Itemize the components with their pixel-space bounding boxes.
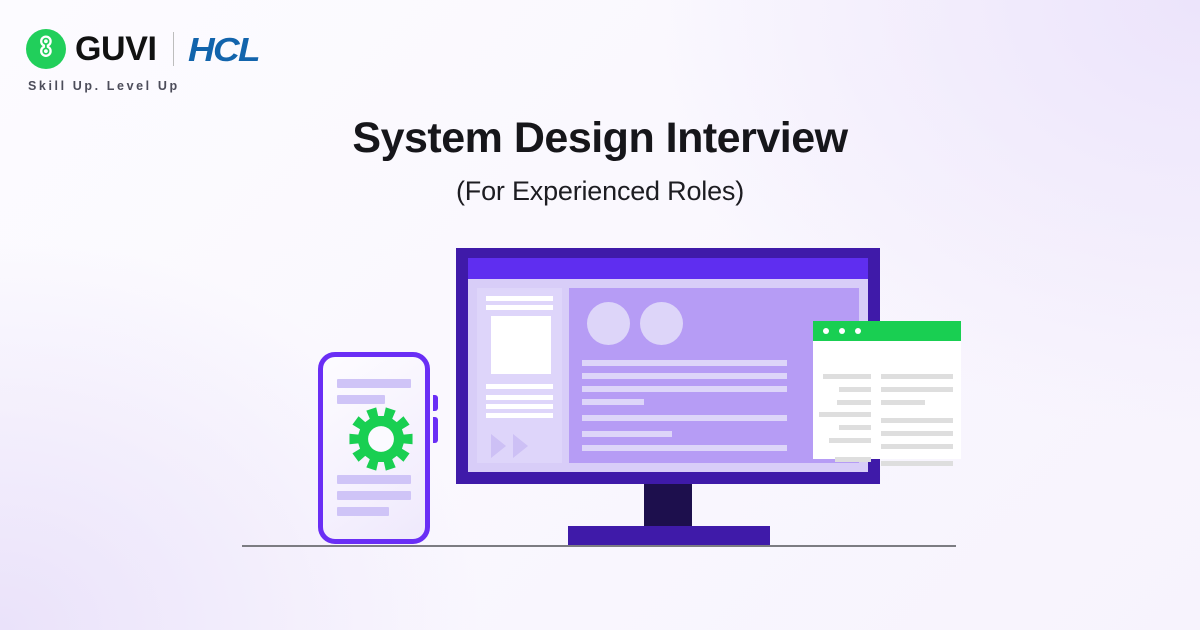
gear-settings-icon: [347, 405, 415, 473]
sidebar-bar: [486, 395, 553, 400]
screen-body: [468, 279, 868, 472]
window-text-bar: [881, 444, 953, 449]
window-text-bar: [829, 438, 871, 443]
content-bar: [582, 399, 644, 405]
window-text-bar: [881, 374, 953, 379]
phone-content-bar: [337, 475, 411, 484]
window-dot-icon: [823, 328, 829, 334]
content-bar: [582, 431, 672, 437]
sidebar-bar: [486, 305, 553, 310]
phone-content-bar: [337, 491, 411, 500]
window-text-bar: [839, 425, 871, 430]
sidebar-bar: [486, 296, 553, 301]
content-panel: [569, 288, 859, 463]
play-triangle-icon: [513, 434, 528, 458]
avatar-circle: [587, 302, 630, 345]
monitor-base: [568, 526, 770, 545]
window-text-bar: [881, 400, 925, 405]
window-text-bar: [839, 387, 871, 392]
phone-side-button: [433, 417, 438, 443]
sidebar-bar: [486, 384, 553, 389]
content-bar: [582, 415, 787, 421]
system-design-devices-illustration: [0, 0, 1200, 630]
image-placeholder: [491, 316, 551, 374]
monitor-stand: [644, 484, 692, 529]
sidebar-bar: [486, 404, 553, 409]
window-dot-icon: [855, 328, 861, 334]
play-triangle-icon: [491, 434, 506, 458]
window-text-bar: [837, 400, 871, 405]
content-bar: [582, 373, 787, 379]
browser-window-mock: [813, 321, 961, 459]
desktop-monitor-illustration: [456, 248, 880, 484]
browser-titlebar: [813, 321, 961, 341]
window-text-bar: [881, 461, 953, 466]
monitor-screen: [468, 258, 868, 472]
phone-content-bar: [337, 379, 411, 388]
sidebar-panel: [477, 288, 562, 463]
content-bar: [582, 445, 787, 451]
content-bar: [582, 386, 787, 392]
window-text-bar: [819, 412, 871, 417]
ground-shadow-line: [242, 545, 956, 547]
window-text-bar: [881, 431, 953, 436]
window-text-bar: [835, 457, 871, 462]
avatar-circle: [640, 302, 683, 345]
window-text-bar: [881, 387, 953, 392]
screen-topbar: [468, 258, 868, 279]
window-text-bar: [881, 418, 953, 423]
phone-content-bar: [337, 507, 389, 516]
window-dot-icon: [839, 328, 845, 334]
phone-content-bar: [337, 395, 385, 404]
phone-side-button: [433, 395, 438, 411]
content-bar: [582, 360, 787, 366]
mobile-phone-illustration: [318, 352, 430, 544]
sidebar-bar: [486, 413, 553, 418]
window-text-bar: [823, 374, 871, 379]
